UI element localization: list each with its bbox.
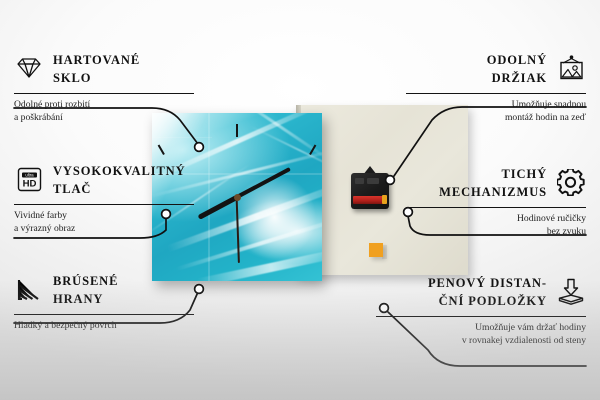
movement-detail (367, 178, 379, 184)
movement-battery-tip (382, 195, 387, 204)
connector-dot-brusene-hrany (195, 285, 204, 294)
feature-brusene-hrany: BRÚSENÉ HRANY Hladký a bezpečný povrch (14, 273, 194, 332)
feature-title: ODOLNÝ DRŽIAK (487, 52, 547, 88)
product-feature-infographic: HARTOVANÉ SKLO Odolné proti rozbití a po… (0, 0, 600, 400)
feature-header: ultra HD VYSOKOKVALITNÝ TLAČ (14, 163, 194, 199)
ultra-hd-icon: ultra HD (14, 164, 44, 194)
feature-title: VYSOKOKVALITNÝ TLAČ (53, 163, 186, 199)
feather-streak (197, 248, 322, 281)
beveled-edges-icon (14, 274, 44, 304)
clock-marker-12 (236, 124, 238, 137)
diamond-icon (14, 53, 44, 83)
feature-title: HARTOVANÉ SKLO (53, 52, 140, 88)
feature-title: PENOVÝ DISTAN- ČNÍ PODLOŽKY (428, 275, 547, 311)
feature-title: BRÚSENÉ HRANY (53, 273, 118, 309)
feature-odolny-drziak: ODOLNÝ DRŽIAK Umožňuje snadnou montáž ho… (406, 52, 586, 124)
movement-detail (355, 178, 364, 184)
svg-text:HD: HD (22, 178, 36, 189)
gear-icon (556, 167, 586, 197)
feature-header: HARTOVANÉ SKLO (14, 52, 194, 88)
clock-hand-cap (234, 194, 241, 201)
feature-header: BRÚSENÉ HRANY (14, 273, 194, 309)
feature-header: PENOVÝ DISTAN- ČNÍ PODLOŽKY (376, 275, 586, 311)
feature-description: Hodinové ručičky bez zvuku (406, 212, 586, 238)
feature-penove-podlozky: PENOVÝ DISTAN- ČNÍ PODLOŽKY Umožňuje vám… (376, 275, 586, 347)
feature-divider (406, 93, 586, 94)
feature-tichy-mechanizmus: TICHÝ MECHANIZMUS Hodinové ručičky bez z… (406, 166, 586, 238)
feature-header: TICHÝ MECHANIZMUS (406, 166, 586, 202)
feature-description: Umožňuje vám držať hodiny v rovnakej vzd… (376, 321, 586, 347)
foam-spacer-pad (369, 243, 383, 257)
feature-description: Vividné farby a výrazný obraz (14, 209, 194, 235)
feature-divider (406, 207, 586, 208)
feature-divider (14, 314, 194, 315)
feature-divider (14, 204, 194, 205)
feature-description: Umožňuje snadnou montáž hodin na zeď (406, 98, 586, 124)
picture-hanger-icon (556, 53, 586, 83)
feature-description: Hladký a bezpečný povrch (14, 319, 194, 332)
press-down-pad-icon (556, 276, 586, 306)
feature-divider (14, 93, 194, 94)
feature-description: Odolné proti rozbití a poškrábání (14, 98, 194, 124)
clock-hour-hand (197, 195, 238, 220)
feature-title: TICHÝ MECHANIZMUS (439, 166, 547, 202)
feature-vysokokvalitny-tlac: ultra HD VYSOKOKVALITNÝ TLAČ Vividné far… (14, 163, 194, 235)
svg-text:ultra: ultra (25, 172, 34, 177)
clock-marker-11 (158, 145, 165, 156)
feature-hartovane-sklo: HARTOVANÉ SKLO Odolné proti rozbití a po… (14, 52, 194, 124)
feature-header: ODOLNÝ DRŽIAK (406, 52, 586, 88)
glass-pane-seam (208, 113, 210, 281)
glass-pane-seam (152, 137, 212, 138)
clock-second-hand (236, 197, 240, 263)
feature-divider (376, 316, 586, 317)
